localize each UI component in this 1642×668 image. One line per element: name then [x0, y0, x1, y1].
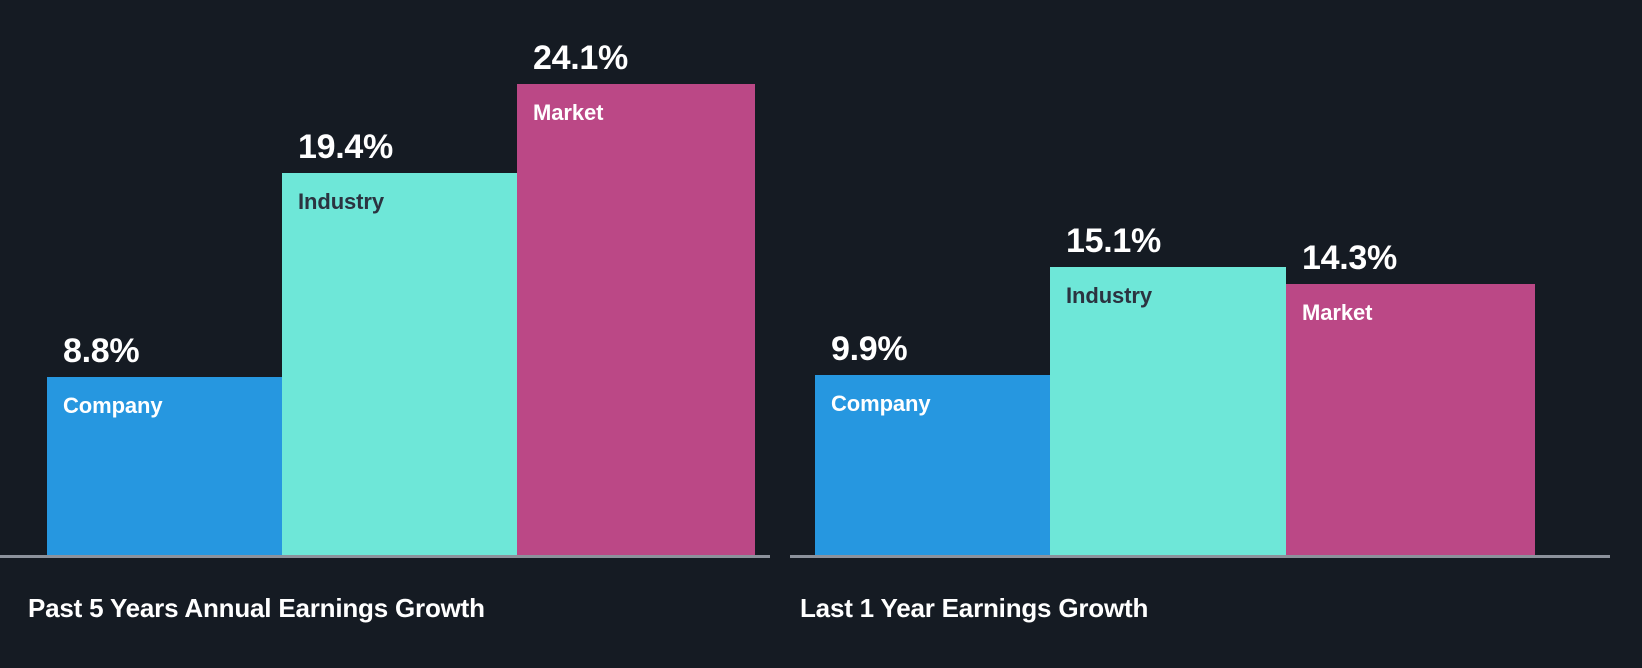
bar-value-industry: 19.4%	[298, 128, 393, 167]
bar-industry[interactable]: 15.1% Industry	[1050, 267, 1286, 555]
bar-slot-industry: 15.1% Industry	[1050, 0, 1286, 555]
bar-slot-industry: 19.4% Industry	[282, 0, 517, 555]
chart-title-left: Past 5 Years Annual Earnings Growth	[28, 593, 485, 624]
bar-label-market: Market	[1302, 300, 1372, 326]
chart-title-right: Last 1 Year Earnings Growth	[800, 593, 1148, 624]
bar-group-left: 8.8% Company 19.4% Industry 24.1% Market	[47, 0, 755, 555]
bar-slot-company: 8.8% Company	[47, 0, 282, 555]
bar-label-company: Company	[831, 391, 931, 417]
bar-value-market: 24.1%	[533, 39, 628, 78]
bar-company[interactable]: 8.8% Company	[47, 377, 282, 555]
bar-market[interactable]: 24.1% Market	[517, 84, 755, 555]
bar-industry[interactable]: 19.4% Industry	[282, 173, 517, 555]
bar-value-industry: 15.1%	[1066, 222, 1161, 261]
bar-label-industry: Industry	[1066, 283, 1152, 309]
chart-panel-last-1-year: 9.9% Company 15.1% Industry 14.3% Market	[790, 0, 1642, 668]
x-axis-line-left	[0, 555, 770, 558]
bar-label-industry: Industry	[298, 189, 384, 215]
bar-group-right: 9.9% Company 15.1% Industry 14.3% Market	[815, 0, 1535, 555]
bar-value-company: 8.8%	[63, 332, 139, 371]
bar-value-market: 14.3%	[1302, 239, 1397, 278]
chart-panel-past-5-years: 8.8% Company 19.4% Industry 24.1% Market	[0, 0, 800, 668]
bar-value-company: 9.9%	[831, 330, 907, 369]
bar-slot-market: 24.1% Market	[517, 0, 755, 555]
bar-label-market: Market	[533, 100, 603, 126]
earnings-growth-chart: 8.8% Company 19.4% Industry 24.1% Market	[0, 0, 1642, 668]
bar-market[interactable]: 14.3% Market	[1286, 284, 1535, 555]
bar-slot-company: 9.9% Company	[815, 0, 1050, 555]
bar-label-company: Company	[63, 393, 163, 419]
bar-company[interactable]: 9.9% Company	[815, 375, 1050, 555]
bar-slot-market: 14.3% Market	[1286, 0, 1535, 555]
plot-area-left: 8.8% Company 19.4% Industry 24.1% Market	[0, 0, 800, 558]
plot-area-right: 9.9% Company 15.1% Industry 14.3% Market	[790, 0, 1642, 558]
x-axis-line-right	[790, 555, 1610, 558]
